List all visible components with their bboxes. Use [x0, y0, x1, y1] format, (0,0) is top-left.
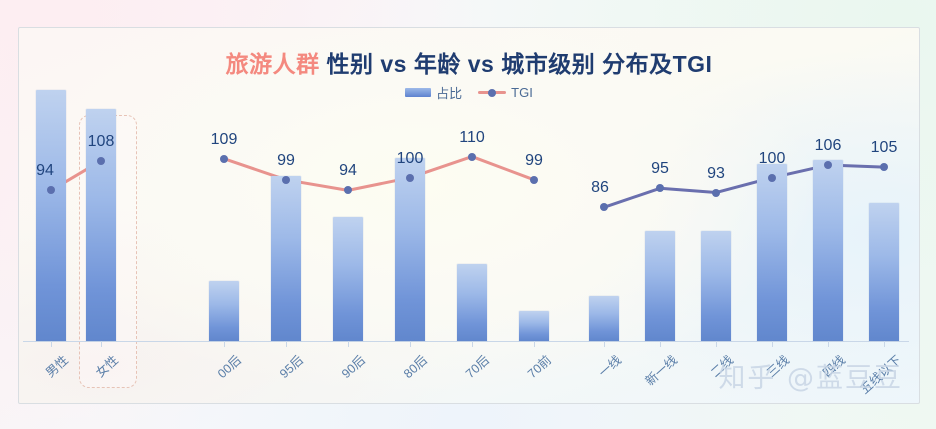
x-tick — [660, 341, 661, 347]
tgi-point-70前[interactable] — [530, 176, 538, 184]
x-label-70后: 70后 — [460, 350, 492, 382]
tgi-point-二线[interactable] — [712, 189, 720, 197]
tgi-label-女性: 108 — [88, 133, 115, 151]
bar-70前[interactable] — [519, 311, 549, 341]
x-label-90后: 90后 — [336, 350, 368, 382]
x-label-00后: 00后 — [212, 350, 244, 382]
tgi-point-00后[interactable] — [220, 155, 228, 163]
bar-二线[interactable] — [701, 231, 731, 342]
watermark: 知乎 @蓝豆豆 — [718, 356, 903, 395]
x-label-一线: 一线 — [593, 350, 624, 381]
tgi-label-00后: 109 — [211, 131, 238, 149]
x-label-80后: 80后 — [398, 350, 430, 382]
tgi-label-80后: 100 — [397, 150, 424, 168]
tgi-label-一线: 86 — [591, 179, 609, 197]
chart-card: 旅游人群 性别 vs 年龄 vs 城市级别 分布及TGI 占比 TGI 94男性… — [18, 27, 920, 404]
tgi-label-90后: 94 — [339, 162, 357, 180]
tgi-point-一线[interactable] — [600, 203, 608, 211]
tgi-point-90后[interactable] — [344, 186, 352, 194]
tgi-point-新一线[interactable] — [656, 184, 664, 192]
tgi-point-三线[interactable] — [768, 174, 776, 182]
tgi-label-男性: 94 — [36, 162, 54, 180]
tgi-label-三线: 100 — [759, 150, 786, 168]
tgi-point-男性[interactable] — [47, 186, 55, 194]
bar-70后[interactable] — [457, 264, 487, 341]
bar-五线以下[interactable] — [869, 203, 899, 341]
tgi-point-70后[interactable] — [468, 153, 476, 161]
x-label-95后: 95后 — [274, 350, 306, 382]
x-tick — [224, 341, 225, 347]
tgi-label-四线: 106 — [815, 137, 842, 155]
plot-area: 94男性108女性10900后9995后9490后10080后11070后997… — [19, 28, 919, 403]
x-tick — [101, 341, 102, 347]
bar-95后[interactable] — [271, 176, 301, 341]
x-tick — [51, 341, 52, 347]
x-tick — [772, 341, 773, 347]
x-tick — [604, 341, 605, 347]
x-label-男性: 男性 — [40, 350, 71, 381]
tgi-point-女性[interactable] — [97, 157, 105, 165]
tgi-label-二线: 93 — [707, 165, 725, 183]
tgi-point-80后[interactable] — [406, 174, 414, 182]
x-tick — [716, 341, 717, 347]
x-tick — [286, 341, 287, 347]
bar-三线[interactable] — [757, 164, 787, 341]
bar-一线[interactable] — [589, 296, 619, 341]
tgi-point-四线[interactable] — [824, 161, 832, 169]
tgi-label-70后: 110 — [459, 129, 485, 147]
tgi-label-五线以下: 105 — [871, 139, 898, 157]
x-tick — [348, 341, 349, 347]
x-axis-line — [23, 341, 909, 342]
tgi-point-95后[interactable] — [282, 176, 290, 184]
bar-新一线[interactable] — [645, 231, 675, 342]
tgi-label-70前: 99 — [525, 152, 543, 170]
bar-00后[interactable] — [209, 281, 239, 341]
bar-男性[interactable] — [36, 90, 66, 341]
tgi-point-五线以下[interactable] — [880, 163, 888, 171]
bar-90后[interactable] — [333, 217, 363, 341]
x-tick — [410, 341, 411, 347]
bar-80后[interactable] — [395, 158, 425, 341]
x-tick — [884, 341, 885, 347]
x-label-新一线: 新一线 — [640, 350, 681, 389]
x-tick — [828, 341, 829, 347]
bar-四线[interactable] — [813, 160, 843, 341]
tgi-label-95后: 99 — [277, 152, 295, 170]
tgi-label-新一线: 95 — [651, 160, 669, 178]
x-label-70前: 70前 — [522, 350, 554, 382]
x-tick — [472, 341, 473, 347]
x-tick — [534, 341, 535, 347]
